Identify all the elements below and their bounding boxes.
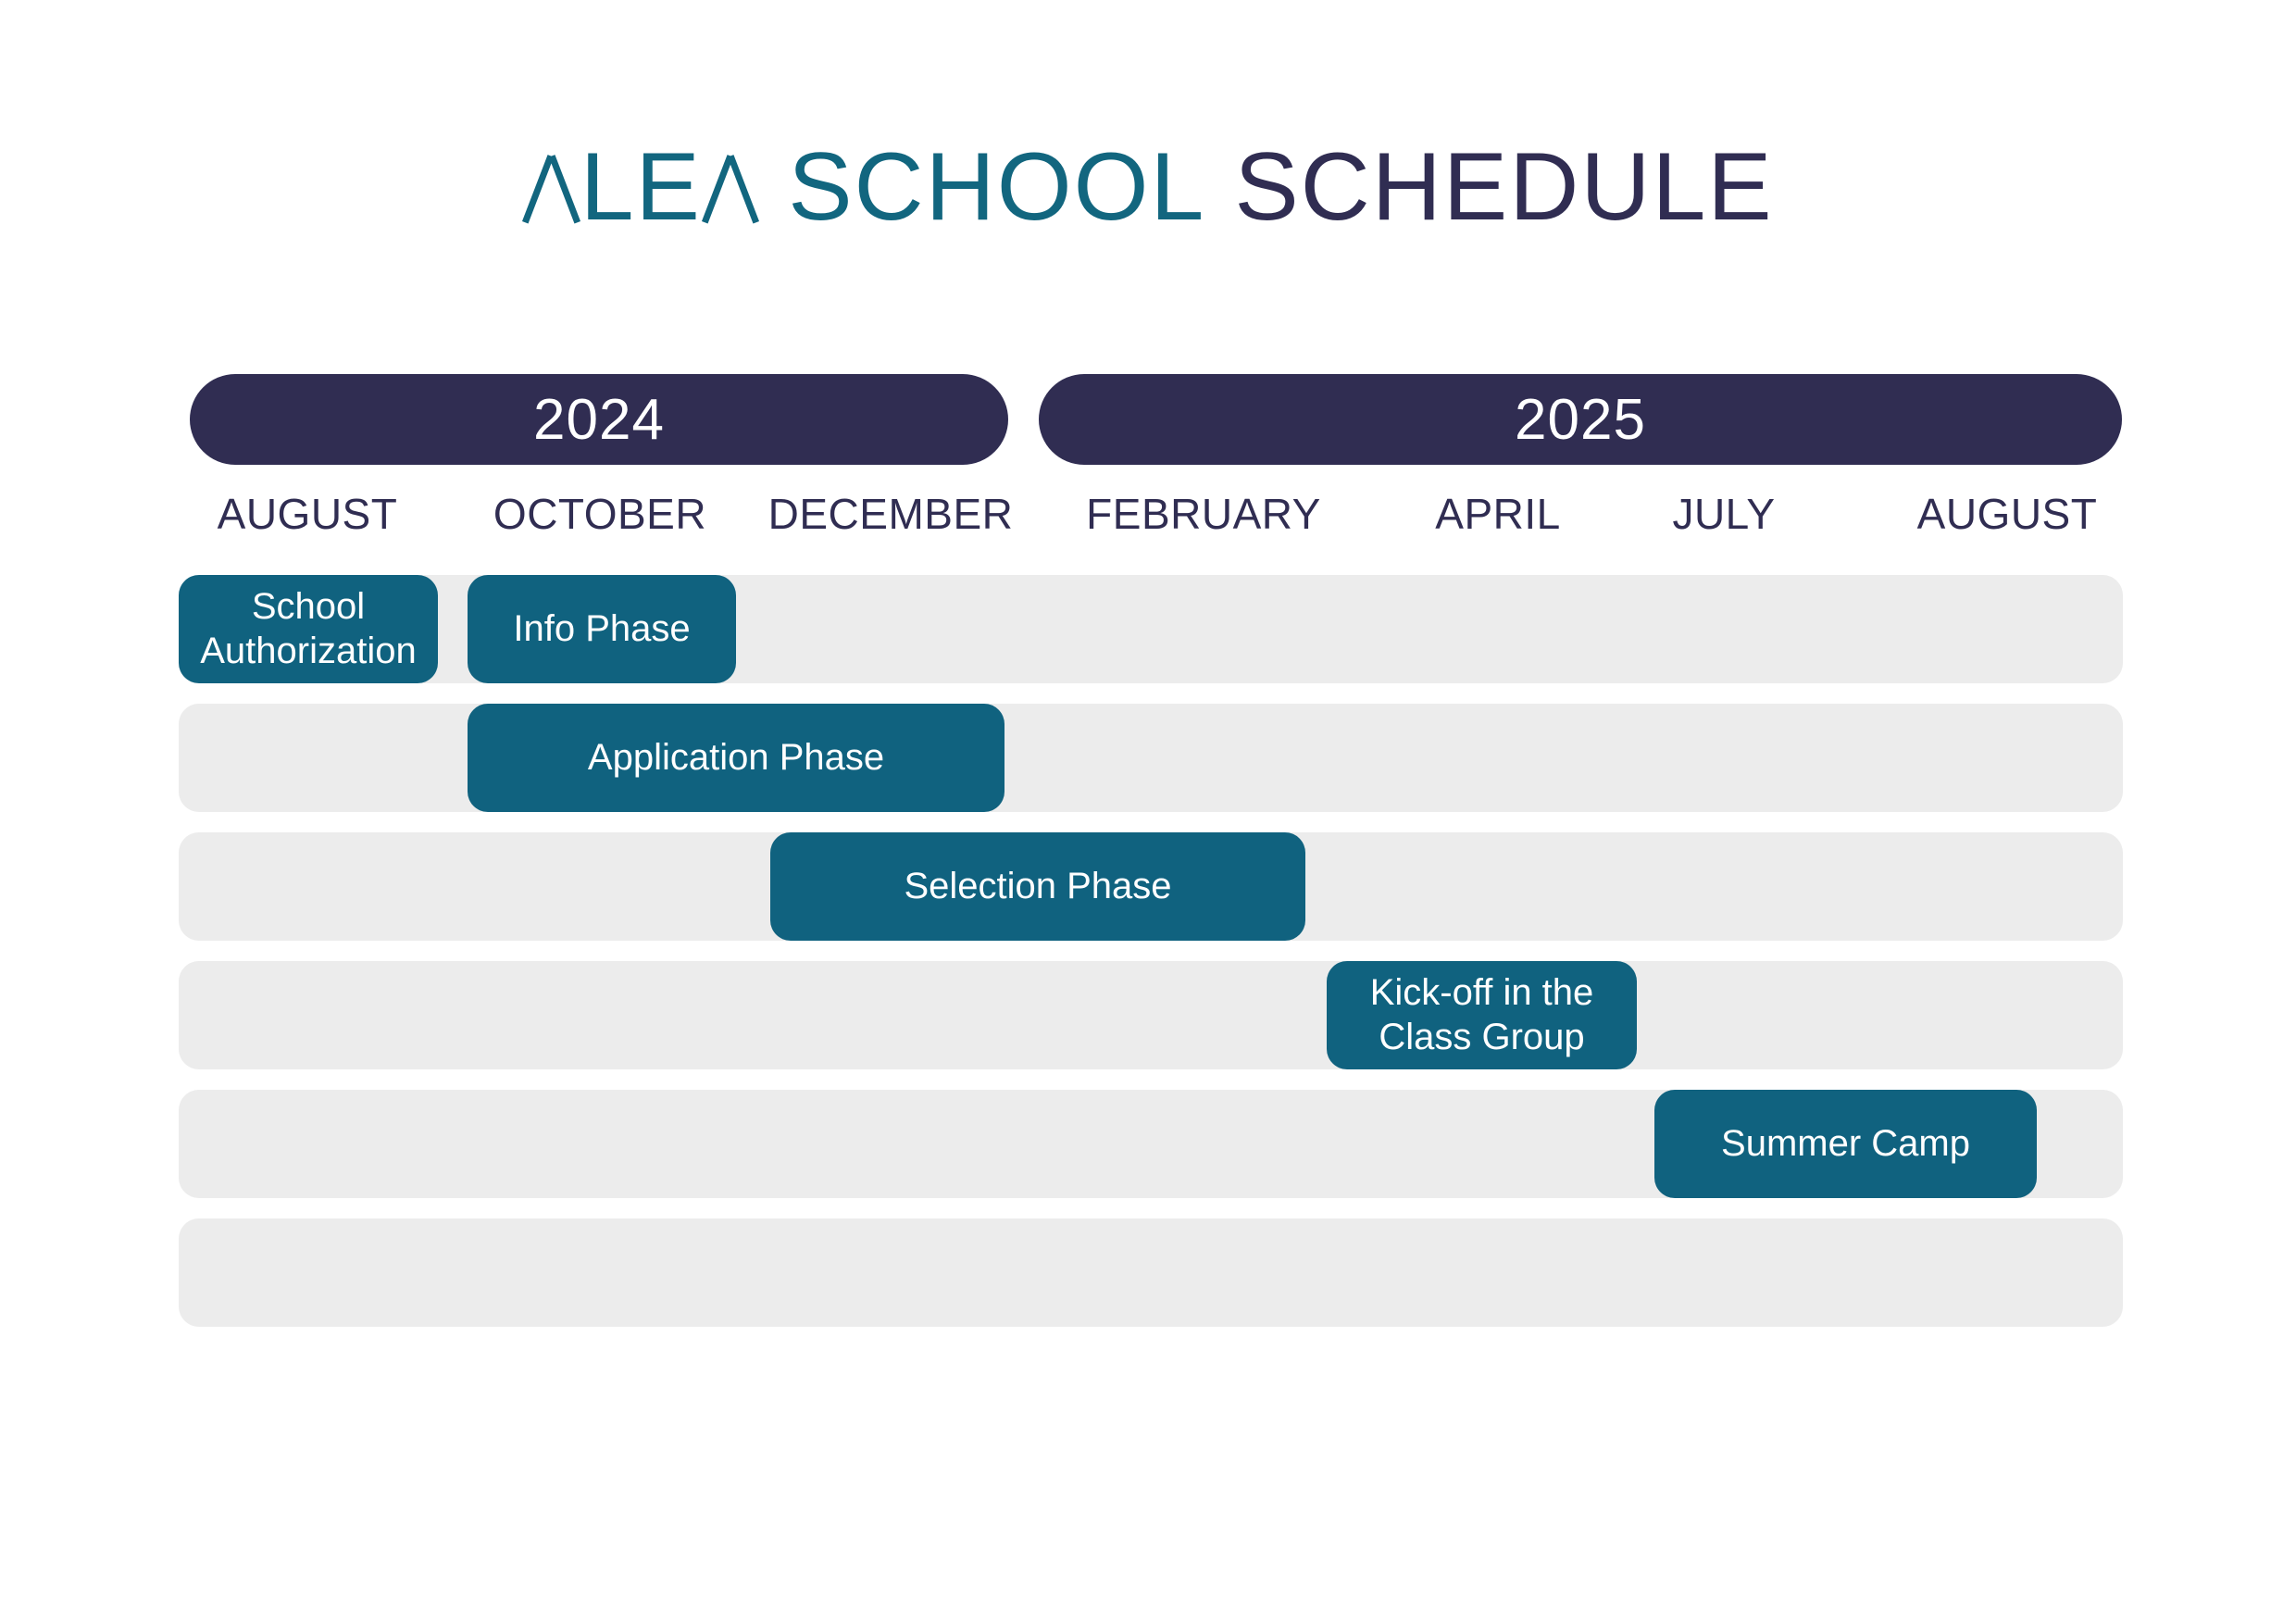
month-label-august-6: AUGUST <box>1917 489 2098 539</box>
gantt-bar-application-phase[interactable]: Info Phase <box>468 575 736 683</box>
gantt-bar-enrollment[interactable]: Summer Camp <box>1654 1090 2037 1198</box>
page-title: LE SCHOOL SCHEDULE <box>0 139 2296 235</box>
gantt-chart: School AuthorizationInfo PhaseApplicatio… <box>179 575 2123 1334</box>
month-label-december-2: DECEMBER <box>768 489 1014 539</box>
stylized-a-icon <box>702 152 759 221</box>
year-label: 2025 <box>1515 387 1646 453</box>
year-pill-2024: 2024 <box>190 374 1008 465</box>
gantt-row-track <box>179 1218 2123 1327</box>
month-label-row: AUGUSTOCTOBERDECEMBERFEBRUARYAPRILJULYAU… <box>0 489 2296 539</box>
brand-name-mid: LE <box>580 133 702 241</box>
month-label-july-5: JULY <box>1672 489 1775 539</box>
year-label: 2024 <box>533 387 665 453</box>
month-label-february-3: FEBRUARY <box>1086 489 1321 539</box>
gantt-bar-selection-phase[interactable]: Application Phase <box>468 704 1004 812</box>
brand-name-rest: SCHOOL <box>759 133 1205 241</box>
month-label-april-4: APRIL <box>1435 489 1560 539</box>
brand-name: LE SCHOOL <box>522 133 1205 241</box>
gantt-bar-kick-off-in-the-class-group[interactable]: Selection Phase <box>770 832 1305 941</box>
gantt-bar-school-authorization[interactable]: School Authorization <box>179 575 438 683</box>
year-header-row: 20242025 <box>0 374 2296 465</box>
month-label-august-0: AUGUST <box>218 489 398 539</box>
title-word-schedule: SCHEDULE <box>1205 133 1773 241</box>
month-label-october-1: OCTOBER <box>493 489 706 539</box>
gantt-bar-summer-camp[interactable]: Kick-off in the Class Group <box>1327 961 1637 1069</box>
year-pill-2025: 2025 <box>1039 374 2122 465</box>
gantt-row-track <box>179 961 2123 1069</box>
stylized-a-icon <box>522 152 580 221</box>
